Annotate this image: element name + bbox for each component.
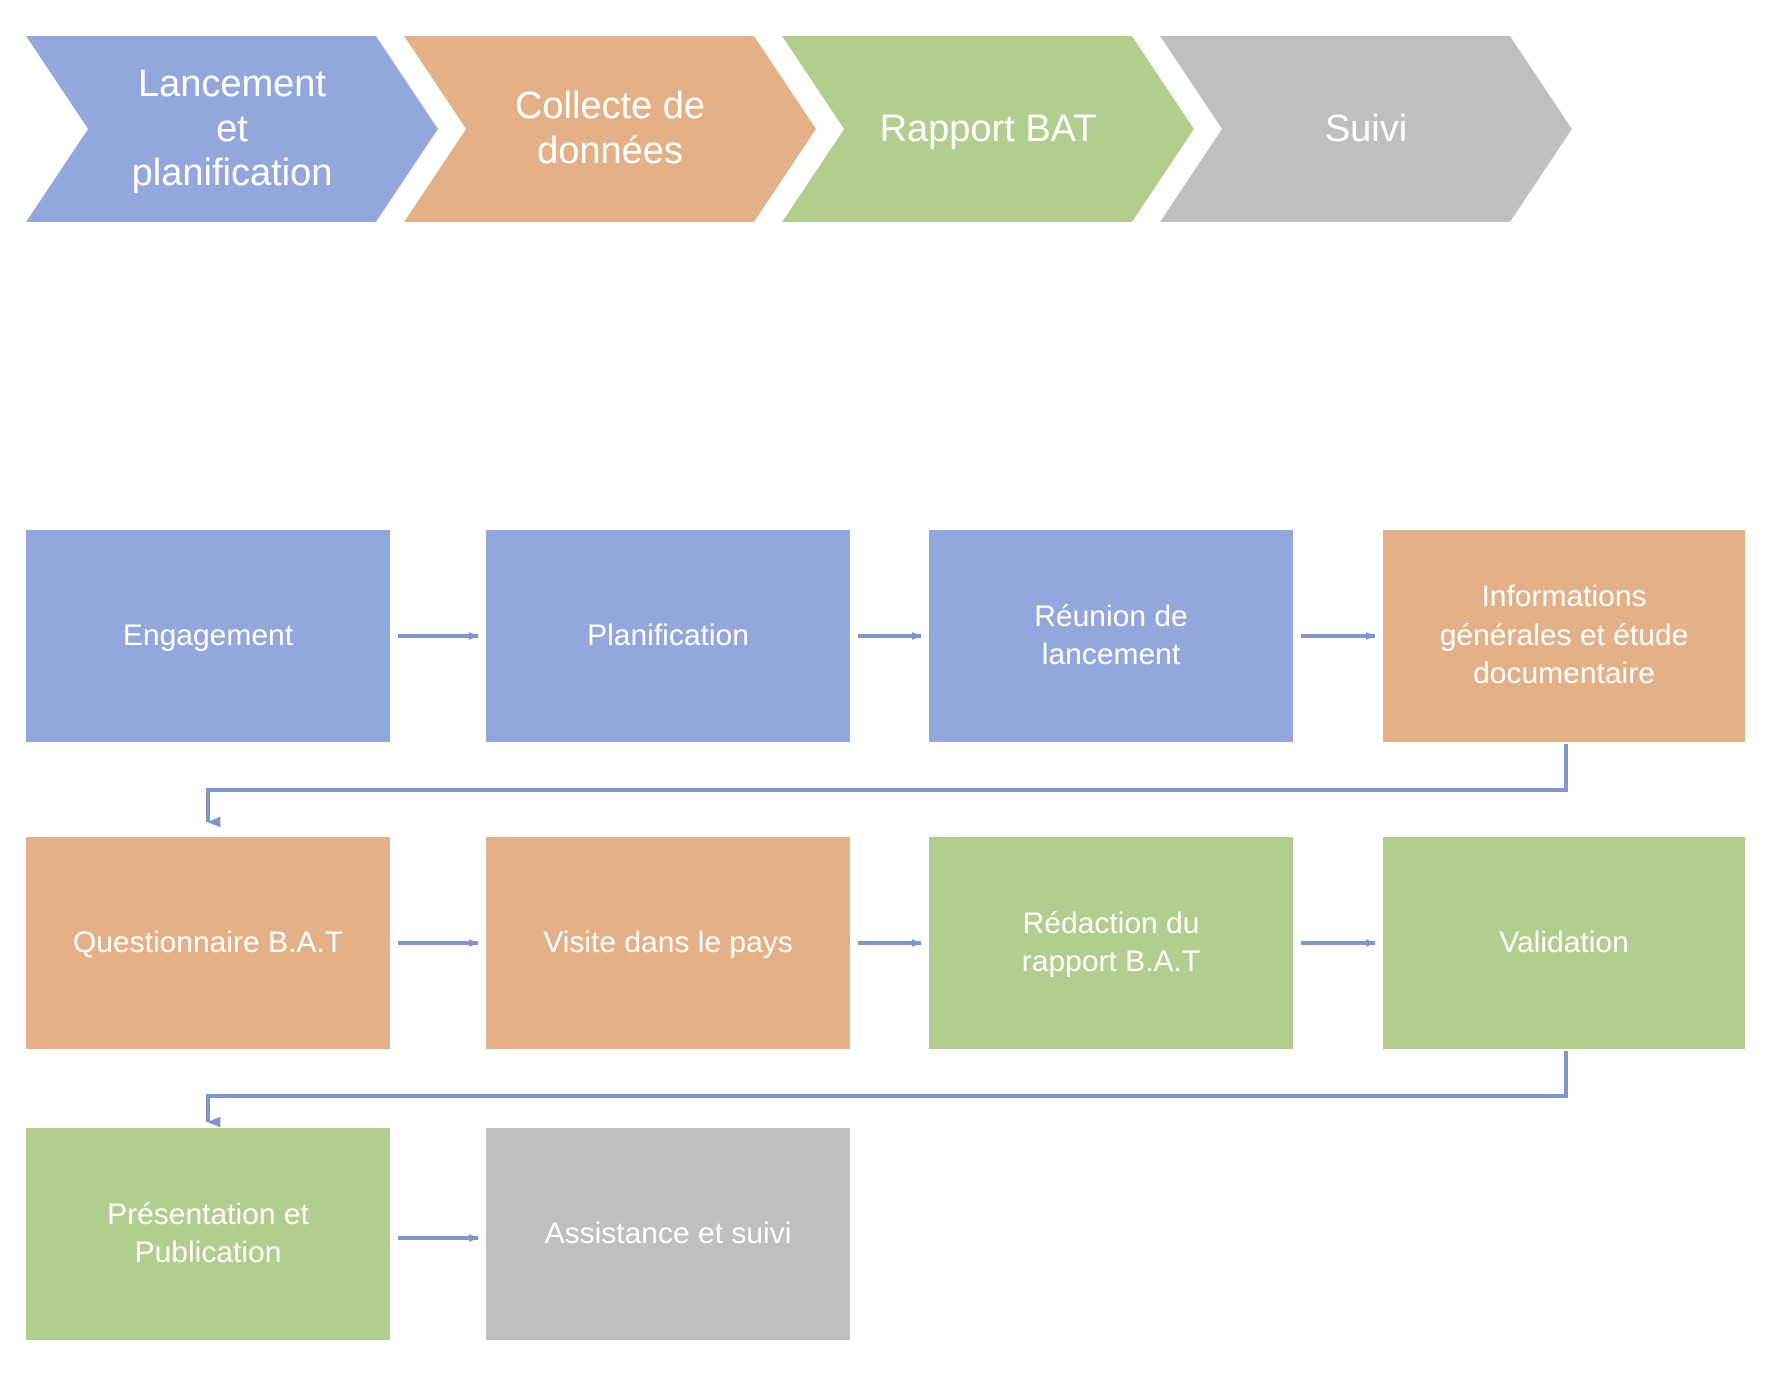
process-phase-banner: Lancement et planificationCollecte de do…	[0, 0, 1774, 260]
phase-chevron-4[interactable]: Suivi	[1160, 36, 1572, 222]
flow-step-box[interactable]: Informations générales et étude document…	[1383, 530, 1745, 742]
phase-chevron-label: Lancement et planification	[122, 62, 343, 196]
flow-step-label: Planification	[587, 617, 749, 655]
phase-chevron-label: Suivi	[1315, 107, 1417, 152]
flowchart-canvas: Lancement et planificationCollecte de do…	[0, 0, 1774, 1382]
phase-chevron-3[interactable]: Rapport BAT	[782, 36, 1194, 222]
flow-step-box[interactable]: Visite dans le pays	[486, 837, 850, 1049]
flow-step-label: Engagement	[123, 617, 293, 655]
flow-step-box[interactable]: Engagement	[26, 530, 390, 742]
flow-step-label: Questionnaire B.A.T	[73, 924, 343, 962]
flow-step-box[interactable]: Présentation et Publication	[26, 1128, 390, 1340]
phase-chevron-label: Rapport BAT	[870, 107, 1107, 152]
arrow-validation-to-presentation	[208, 1051, 1566, 1122]
phase-chevron-label: Collecte de données	[505, 84, 715, 174]
arrow-informations-to-questionnaire	[208, 744, 1566, 822]
flow-step-label: Présentation et Publication	[107, 1196, 309, 1273]
flow-step-label: Assistance et suivi	[545, 1215, 792, 1253]
flow-step-box[interactable]: Rédaction du rapport B.A.T	[929, 837, 1293, 1049]
flow-step-box[interactable]: Planification	[486, 530, 850, 742]
flow-step-label: Validation	[1499, 924, 1629, 962]
phase-chevron-2[interactable]: Collecte de données	[404, 36, 816, 222]
flow-step-label: Réunion de lancement	[1034, 598, 1187, 675]
flow-step-label: Rédaction du rapport B.A.T	[1022, 905, 1200, 982]
flow-step-label: Informations générales et étude document…	[1440, 578, 1689, 693]
flow-step-box[interactable]: Assistance et suivi	[486, 1128, 850, 1340]
flow-step-label: Visite dans le pays	[543, 924, 793, 962]
phase-chevron-1[interactable]: Lancement et planification	[26, 36, 438, 222]
flow-step-box[interactable]: Validation	[1383, 837, 1745, 1049]
flow-step-box[interactable]: Réunion de lancement	[929, 530, 1293, 742]
flow-step-box[interactable]: Questionnaire B.A.T	[26, 837, 390, 1049]
